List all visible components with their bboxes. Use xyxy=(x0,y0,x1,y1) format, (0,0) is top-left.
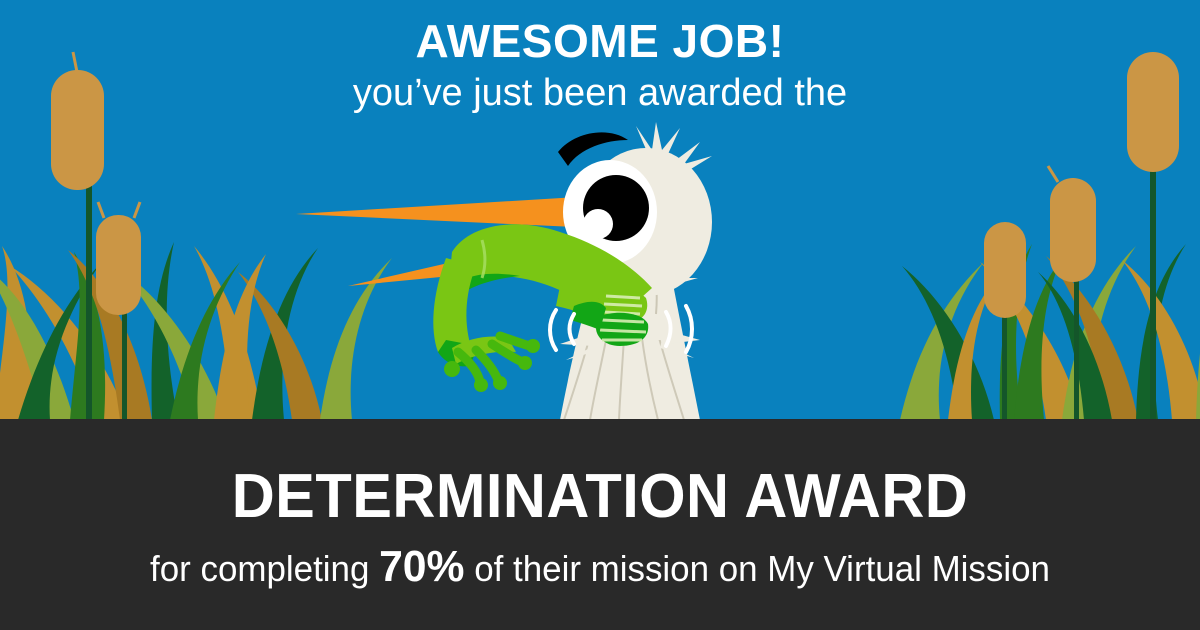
award-subtitle-prefix: for completing xyxy=(150,548,379,589)
award-banner: DETERMINATION AWARD for completing 70% o… xyxy=(0,419,1200,630)
cattail-head xyxy=(1127,52,1179,172)
illustration-canvas xyxy=(0,0,1200,420)
cattail-head xyxy=(984,222,1026,318)
award-subtitle-suffix: of their mission on My Virtual Mission xyxy=(465,548,1050,589)
award-title: DETERMINATION AWARD xyxy=(24,463,1176,531)
award-poster: AWESOME JOB! you’ve just been awarded th… xyxy=(0,0,1200,630)
cattail-head xyxy=(1050,178,1096,282)
cattail-head xyxy=(51,70,104,190)
award-subtitle: for completing 70% of their mission on M… xyxy=(18,545,1182,591)
scene-background: AWESOME JOB! you’ve just been awarded th… xyxy=(0,0,1200,420)
stork-eye-highlight xyxy=(583,209,613,239)
cattail-head xyxy=(96,215,141,315)
award-percent: 70% xyxy=(379,542,464,591)
